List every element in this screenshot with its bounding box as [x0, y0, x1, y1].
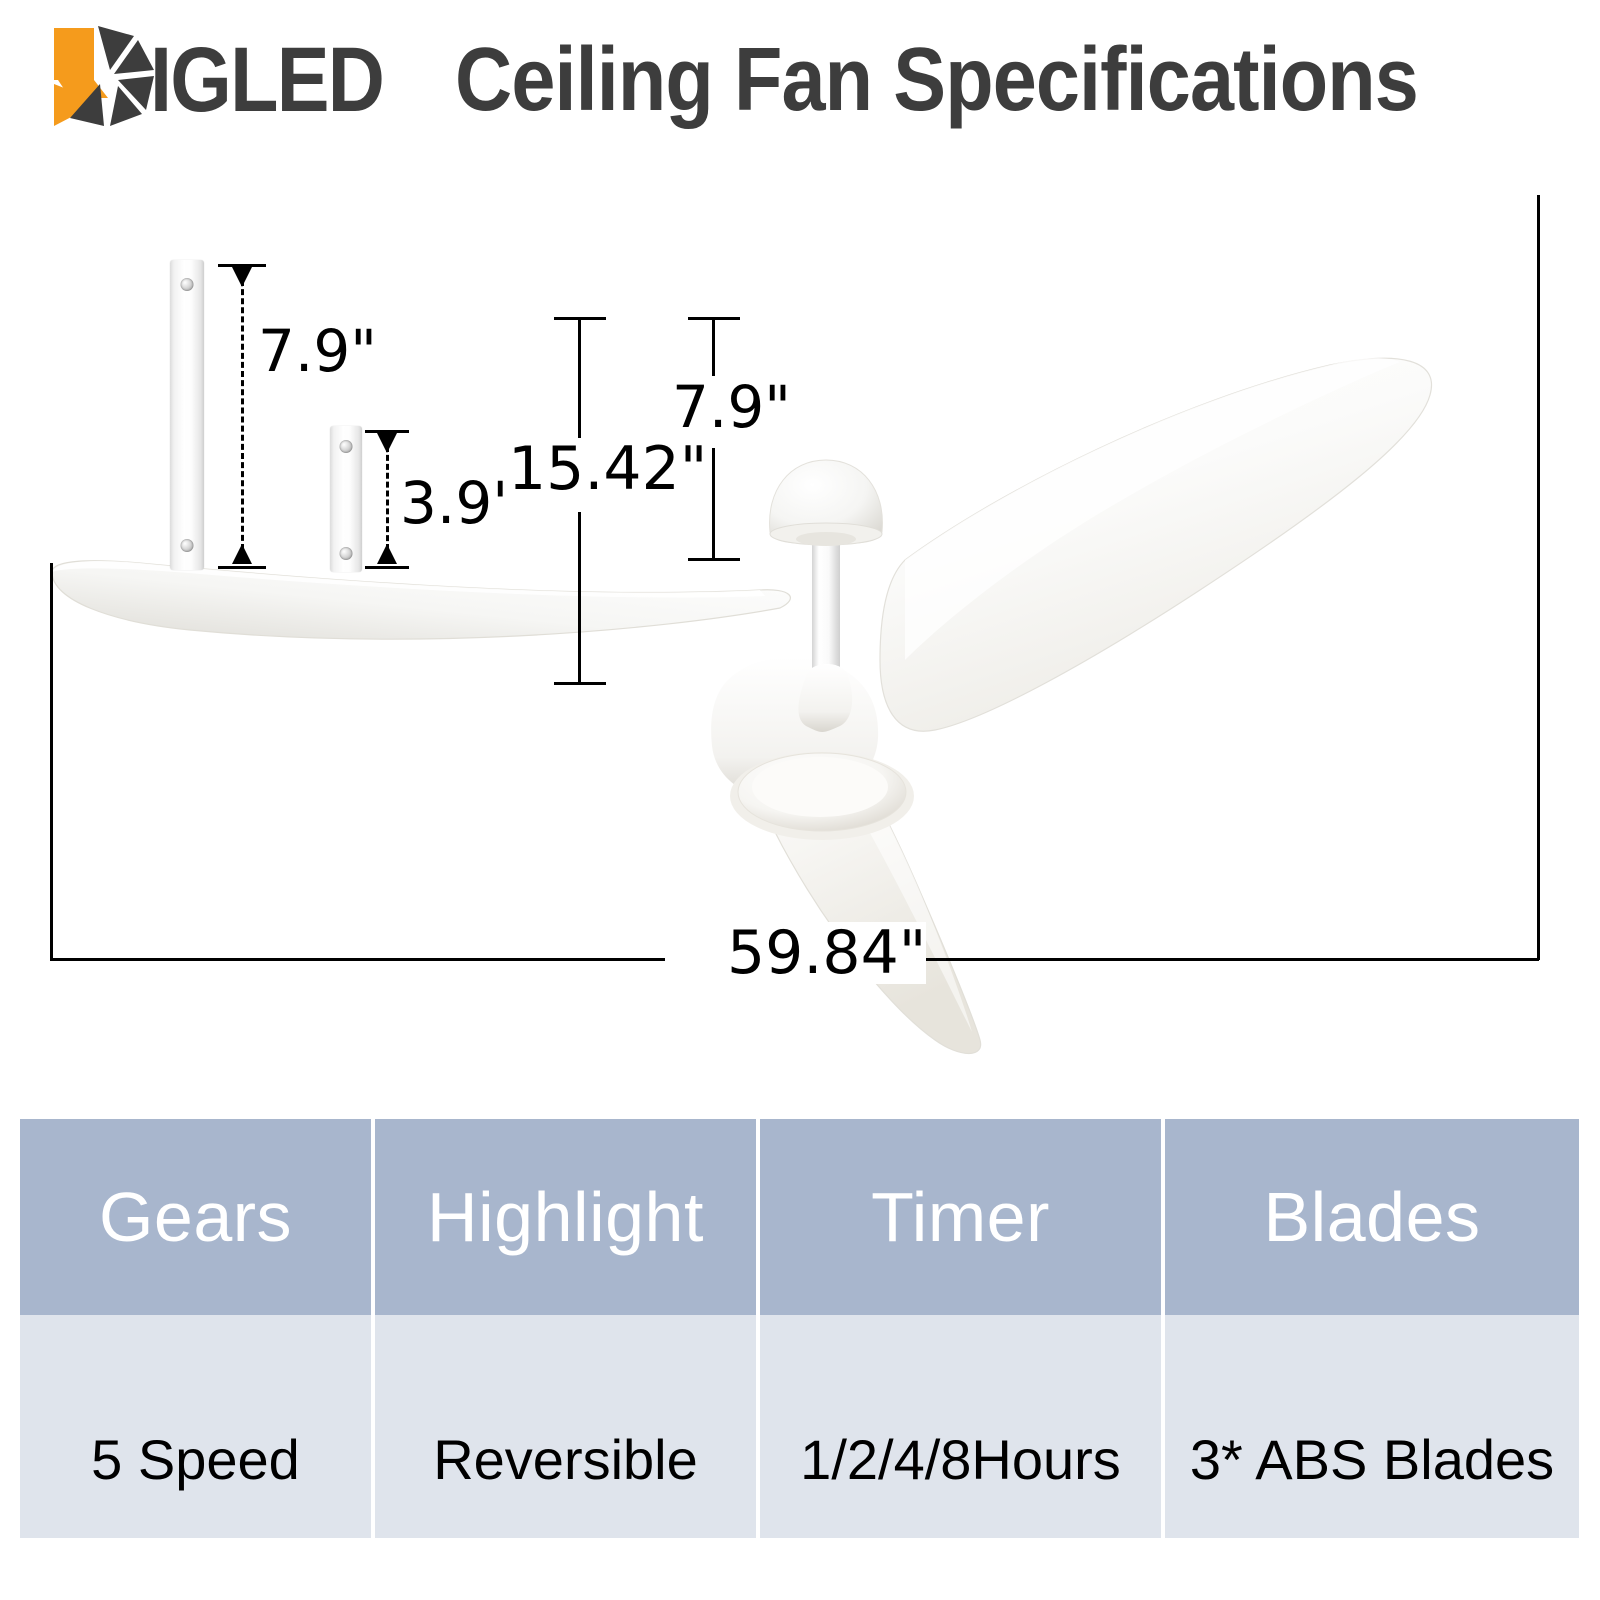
table-header-highlight: Highlight — [375, 1119, 760, 1315]
digled-aperture-logo-icon — [48, 22, 158, 130]
dim-arrow-bottom-39 — [377, 544, 397, 564]
downrod-short-icon — [330, 426, 362, 572]
dim-line-downrod-long — [241, 280, 244, 550]
dim-label-blade-span: 59.84" — [727, 922, 926, 984]
page-title: Ceiling Fan Specifications — [455, 28, 1418, 132]
dim-line-overall-bottom — [578, 512, 581, 684]
dim-line-drop-bottom — [712, 448, 715, 560]
downrod-hole-top — [181, 278, 194, 291]
table-header-timer: Timer — [760, 1119, 1165, 1315]
extension-line-right — [1537, 195, 1540, 960]
dim-line-blade-span-right — [918, 958, 1539, 961]
dim-line-blade-span-left — [50, 958, 665, 961]
dim-cap-bottom-drop — [688, 558, 740, 561]
page-header: IGLED Ceiling Fan Specifications — [0, 0, 1600, 160]
specification-table: Gears Highlight Timer Blades 5 Speed Rev… — [20, 1119, 1583, 1538]
dim-line-downrod-short — [386, 446, 389, 550]
dim-label-overall-height: 15.42" — [508, 438, 707, 500]
table-header-gears: Gears — [20, 1119, 375, 1315]
downrod-hole-bottom — [181, 539, 194, 552]
downrod-short-hole-top — [340, 440, 353, 453]
table-value-blades: 3* ABS Blades — [1165, 1315, 1583, 1538]
table-value-gears: 5 Speed — [20, 1315, 375, 1538]
dim-cap-bottom-39 — [365, 566, 409, 569]
dim-label-downrod-short: 3.9" — [400, 472, 519, 534]
dim-line-overall-top — [578, 317, 581, 442]
table-header-blades: Blades — [1165, 1119, 1583, 1315]
dim-line-drop-top — [712, 317, 715, 379]
table-value-highlight: Reversible — [375, 1315, 760, 1538]
dim-label-drop-height: 7.9" — [672, 376, 791, 438]
table-header-row: Gears Highlight Timer Blades — [20, 1119, 1583, 1315]
table-value-timer: 1/2/4/8Hours — [760, 1315, 1165, 1538]
table-value-row: 5 Speed Reversible 1/2/4/8Hours 3* ABS B… — [20, 1315, 1583, 1538]
product-spec-page: IGLED Ceiling Fan Specifications — [0, 0, 1600, 1600]
brand-name: IGLED — [150, 30, 383, 130]
downrod-short-hole-bottom — [340, 547, 353, 560]
dim-arrow-bottom-79 — [232, 544, 252, 564]
dim-cap-bottom-1542 — [554, 682, 606, 685]
downrod-long-icon — [170, 260, 204, 570]
product-diagram: 7.9" 3.9" 15.42" 7.9" 59.84" — [0, 160, 1600, 1060]
extension-line-left — [50, 563, 53, 960]
dim-label-downrod-long: 7.9" — [258, 320, 377, 382]
dim-cap-bottom-79 — [218, 566, 266, 569]
